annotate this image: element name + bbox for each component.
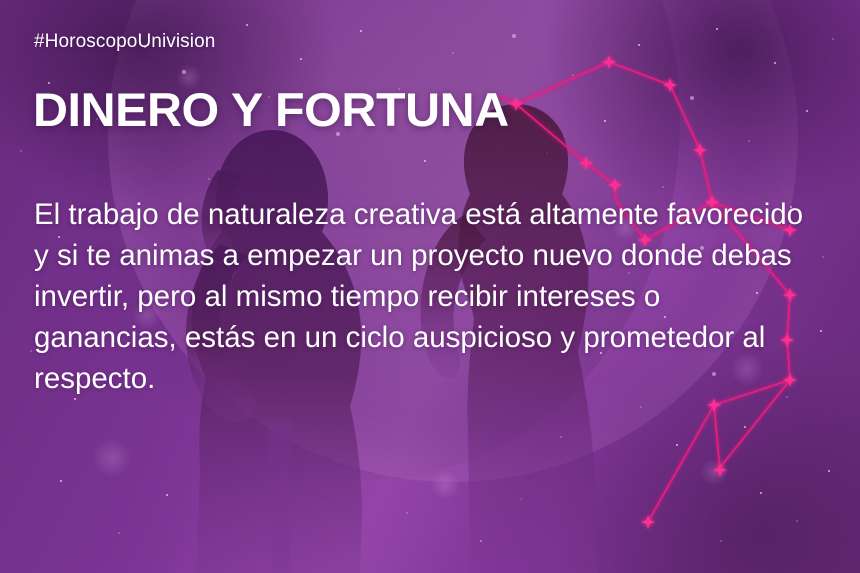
card-content: #HoroscopoUnivision DINERO Y FORTUNA El …: [0, 0, 860, 573]
horoscope-body-text: El trabajo de naturaleza creativa está a…: [34, 194, 806, 399]
page-title: DINERO Y FORTUNA: [33, 83, 509, 136]
horoscope-card: #HoroscopoUnivision DINERO Y FORTUNA El …: [0, 0, 860, 573]
hashtag-label: #HoroscopoUnivision: [34, 31, 215, 53]
